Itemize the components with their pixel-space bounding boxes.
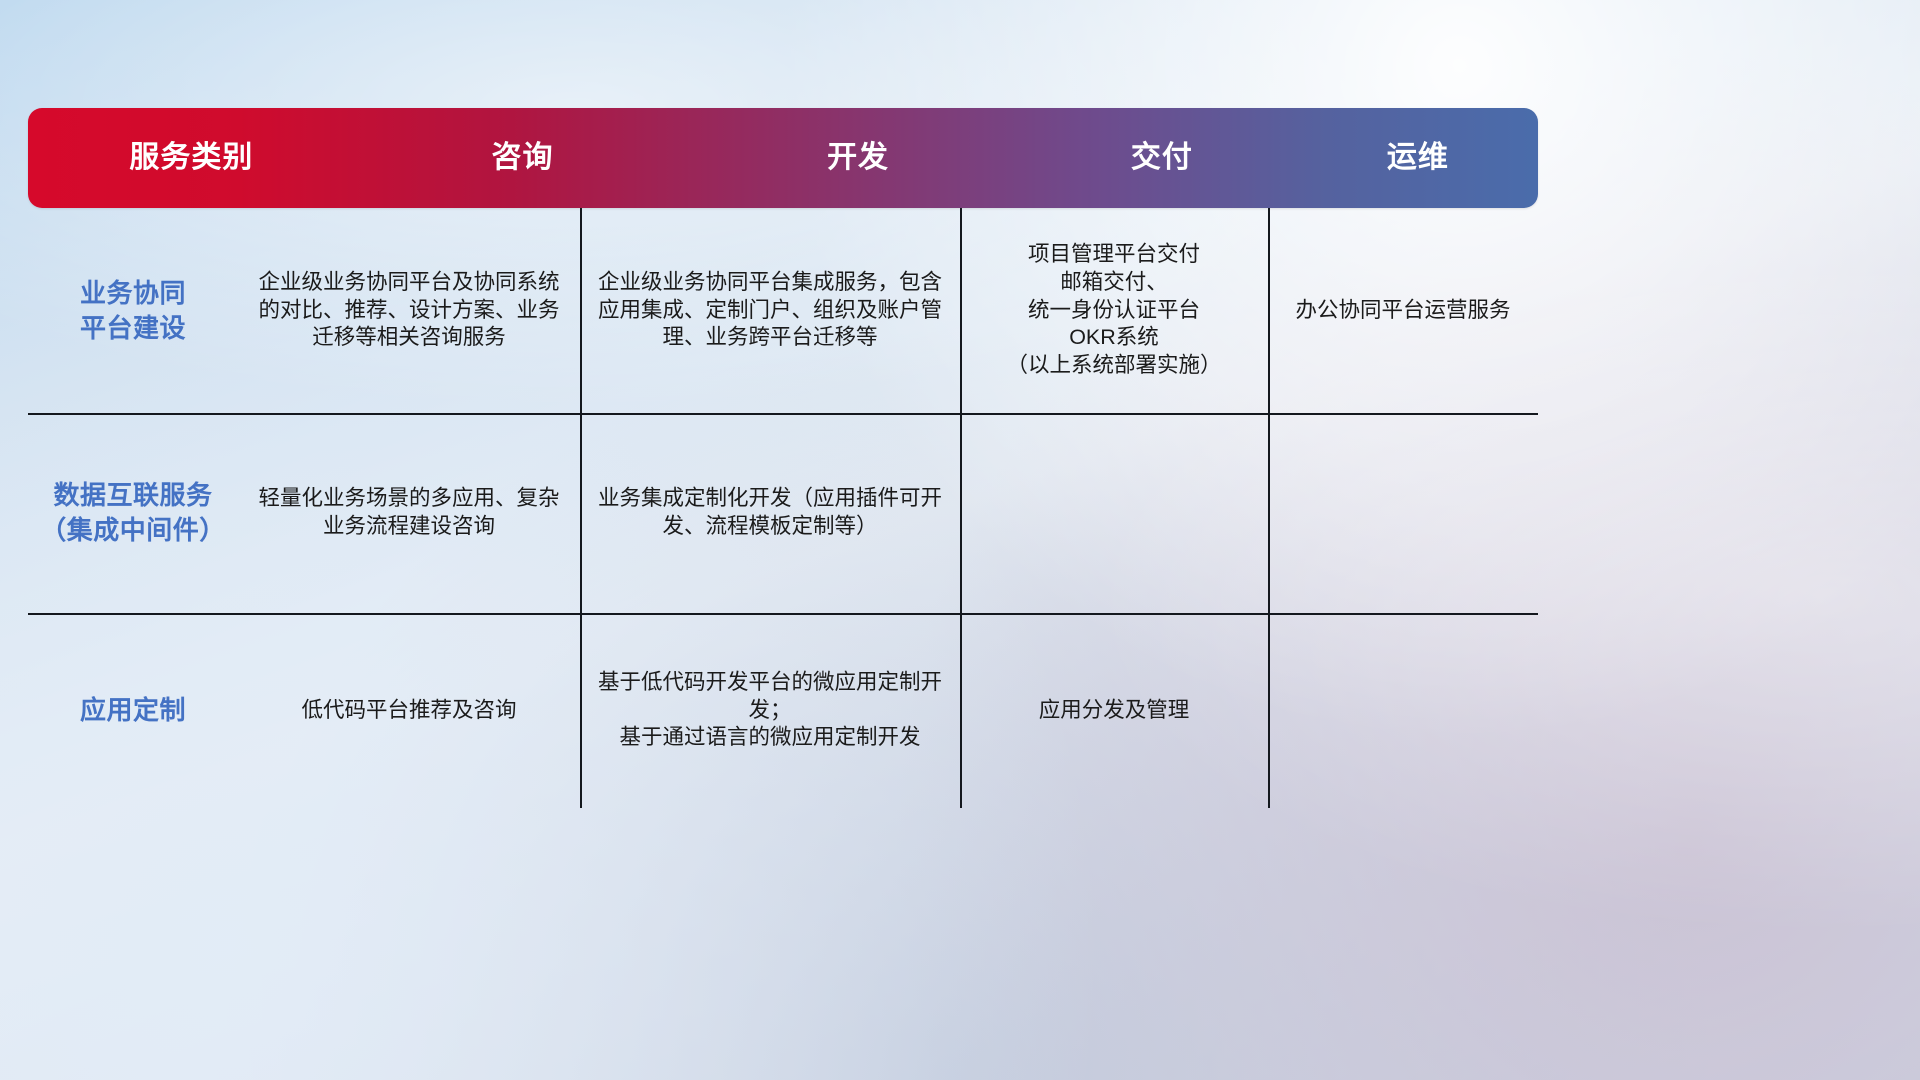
cell-delivery: 应用分发及管理 [960,613,1268,808]
cell-operations [1268,413,1538,613]
cell-consulting: 企业级业务协同平台及协同系统的对比、推荐、设计方案、业务迁移等相关咨询服务 [238,208,580,413]
column-header-delivery: 交付 [1026,143,1298,173]
table-header-row: 服务类别 咨询 开发 交付 运维 [28,108,1538,208]
cell-consulting: 低代码平台推荐及咨询 [238,613,580,808]
table-row: 业务协同 平台建设 企业级业务协同平台及协同系统的对比、推荐、设计方案、业务迁移… [28,208,1538,413]
cell-operations [1268,613,1538,808]
row-category-label: 数据互联服务 （集成中间件） [28,413,238,613]
cell-consulting: 轻量化业务场景的多应用、复杂业务流程建设咨询 [238,413,580,613]
service-matrix-table: 服务类别 咨询 开发 交付 运维 业务协同 平台建设 企业级业务协同平台及协同系… [28,108,1538,808]
column-header-service-category: 服务类别 [28,143,355,173]
table-row: 应用定制 低代码平台推荐及咨询 基于低代码开发平台的微应用定制开发； 基于通过语… [28,613,1538,808]
column-header-consulting: 咨询 [355,143,691,173]
cell-development: 基于低代码开发平台的微应用定制开发； 基于通过语言的微应用定制开发 [580,613,960,808]
column-header-development: 开发 [690,143,1026,173]
cell-delivery: 项目管理平台交付 邮箱交付、 统一身份认证平台 OKR系统 （以上系统部署实施） [960,208,1268,413]
column-header-operations: 运维 [1298,143,1538,173]
row-category-label: 应用定制 [28,613,238,808]
row-category-label: 业务协同 平台建设 [28,208,238,413]
cell-development: 业务集成定制化开发（应用插件可开发、流程模板定制等） [580,413,960,613]
cell-delivery [960,413,1268,613]
table-body: 业务协同 平台建设 企业级业务协同平台及协同系统的对比、推荐、设计方案、业务迁移… [28,208,1538,808]
table-row: 数据互联服务 （集成中间件） 轻量化业务场景的多应用、复杂业务流程建设咨询 业务… [28,413,1538,613]
cell-operations: 办公协同平台运营服务 [1268,208,1538,413]
cell-development: 企业级业务协同平台集成服务，包含应用集成、定制门户、组织及账户管理、业务跨平台迁… [580,208,960,413]
